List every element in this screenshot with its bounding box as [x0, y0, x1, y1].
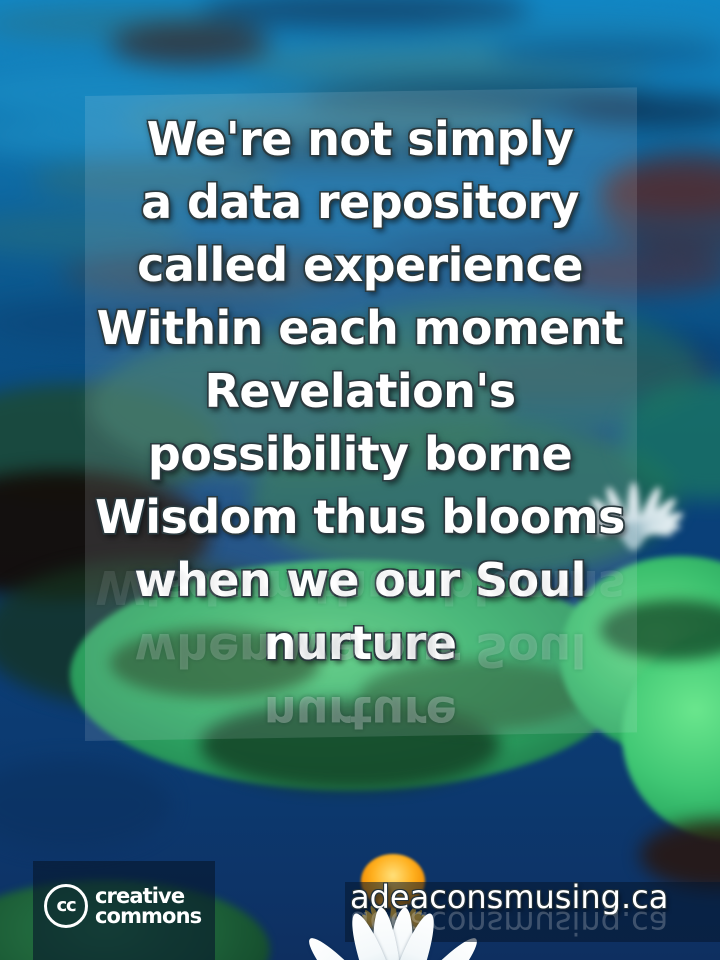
quote-line-8: when we our Soul: [0, 549, 720, 612]
quote-text: We're not simply a data repository calle…: [0, 108, 720, 675]
quote-line-3: called experience: [0, 234, 720, 297]
quote-line-7: Wisdom thus blooms: [0, 486, 720, 549]
creative-commons-logo[interactable]: cc creative commons: [44, 884, 201, 928]
quote-line-4: Within each moment: [0, 297, 720, 360]
quote-poster: We're not simply a data repository calle…: [0, 0, 720, 960]
quote-line-5: Revelation's: [0, 360, 720, 423]
creative-commons-line-1: creative: [95, 886, 201, 906]
creative-commons-wordmark: creative commons: [95, 886, 201, 926]
quote-line-2: a data repository: [0, 171, 720, 234]
creative-commons-icon: cc: [44, 884, 88, 928]
creative-commons-line-2: commons: [95, 906, 201, 926]
quote-line-6: possibility borne: [0, 423, 720, 486]
quote-line-9: nurture: [0, 612, 720, 675]
quote-line-1: We're not simply: [0, 108, 720, 171]
